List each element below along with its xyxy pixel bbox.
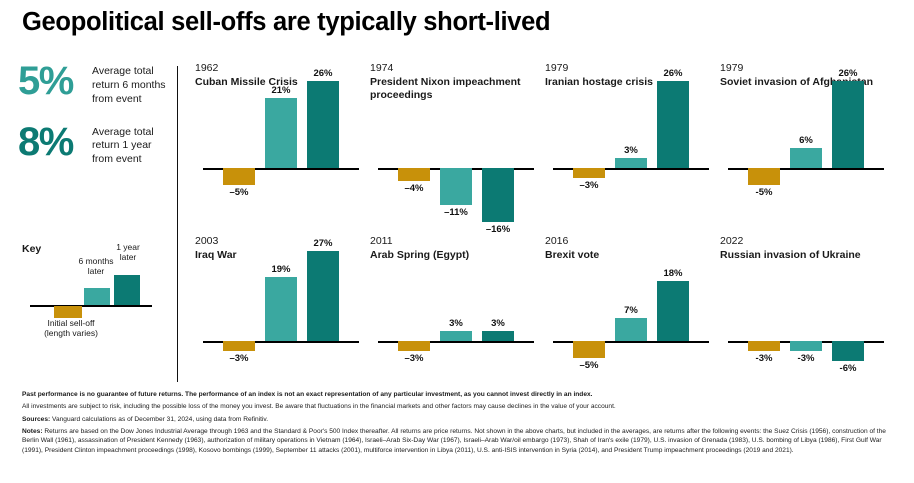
chart-panel: 2016Brexit vote–5%7%18% [545, 235, 717, 403]
bar-value-label: -5% [741, 187, 787, 198]
bar-value-label: –16% [475, 224, 521, 235]
chart-bars: –4%–11%–16% [398, 62, 528, 230]
bar-value-label: –11% [433, 207, 479, 218]
bar-value-label: -6% [825, 363, 871, 374]
bar-value-label: 26% [825, 68, 871, 79]
chart-bars: –5%7%18% [573, 235, 703, 403]
bar-value-label: 26% [300, 68, 346, 79]
bar-initial-sell-off-length-varies [573, 168, 605, 178]
chart-panel: 2003Iraq War–3%19%27% [195, 235, 367, 403]
stat-value-one-year: 8% [18, 123, 92, 161]
bar-6-months-later [265, 277, 297, 341]
chart-bars: –3%3%26% [573, 62, 703, 230]
key-bar-initial-selloff [54, 306, 82, 318]
panel-divider [177, 66, 178, 382]
bar-6-months-later [440, 331, 472, 341]
bar-value-label: –3% [391, 353, 437, 364]
chart-bars: -5%6%26% [748, 62, 878, 230]
bar-1-year-later [307, 81, 339, 168]
footnote-notes: Notes: Returns are based on the Dow Jone… [22, 427, 898, 455]
bar-6-months-later [265, 98, 297, 168]
footnote-disclaimer-2: All investments are subject to risk, inc… [22, 402, 898, 411]
bar-initial-sell-off-length-varies [223, 168, 255, 185]
bar-value-label: 3% [433, 318, 479, 329]
bar-initial-sell-off-length-varies [398, 168, 430, 181]
chart-key: Key 6 months later 1 year later Initial … [22, 243, 172, 321]
bar-value-label: -3% [741, 353, 787, 364]
footnote-disclaimer-1-text: Past performance is no guarantee of futu… [22, 391, 593, 398]
chart-panel: 1979Iranian hostage crisis–3%3%26% [545, 62, 717, 230]
key-bar-one-year [114, 275, 140, 305]
bar-value-label: –4% [391, 183, 437, 194]
chart-bars: -3%-3%-6% [748, 235, 878, 403]
bar-initial-sell-off-length-varies [748, 341, 780, 351]
page-title: Geopolitical sell-offs are typically sho… [22, 8, 550, 37]
footnote-sources: Sources: Vanguard calculations as of Dec… [22, 415, 898, 424]
footnote-sources-text: Vanguard calculations as of December 31,… [50, 416, 268, 423]
chart-panel: 1962Cuban Missile Crisis–5%21%26% [195, 62, 367, 230]
bar-initial-sell-off-length-varies [573, 341, 605, 358]
bar-initial-sell-off-length-varies [398, 341, 430, 351]
bar-1-year-later [657, 81, 689, 168]
chart-bars: –3%19%27% [223, 235, 353, 403]
bar-6-months-later [440, 168, 472, 205]
bar-1-year-later [657, 281, 689, 341]
key-figure: 6 months later 1 year later Initial sell… [22, 259, 162, 321]
bar-value-label: 18% [650, 268, 696, 279]
stat-one-year: 8% Average total return 1 year from even… [18, 123, 168, 168]
bar-value-label: –5% [566, 360, 612, 371]
bar-6-months-later [615, 158, 647, 168]
bar-6-months-later [615, 318, 647, 341]
bar-value-label: 7% [608, 305, 654, 316]
chart-bars: –5%21%26% [223, 62, 353, 230]
stat-description-six-months: Average total return 6 months from event [92, 62, 168, 107]
bar-value-label: 26% [650, 68, 696, 79]
bar-value-label: 3% [475, 318, 521, 329]
key-label-initial-selloff: Initial sell-off (length varies) [44, 319, 98, 339]
bar-6-months-later [790, 148, 822, 168]
bar-1-year-later [482, 168, 514, 222]
bar-1-year-later [307, 251, 339, 341]
bar-value-label: 19% [258, 264, 304, 275]
key-bar-six-months [84, 288, 110, 305]
chart-panel: 2022Russian invasion of Ukraine-3%-3%-6% [720, 235, 892, 403]
bar-value-label: –3% [566, 180, 612, 191]
footnote-notes-text: Returns are based on the Dow Jones Indus… [22, 428, 886, 454]
chart-panel: 2011Arab Spring (Egypt)–3%3%3% [370, 235, 542, 403]
stat-description-one-year: Average total return 1 year from event [92, 123, 168, 168]
bar-value-label: –5% [216, 187, 262, 198]
footnote-sources-label: Sources: [22, 416, 50, 423]
key-baseline [30, 305, 152, 307]
bar-value-label: 21% [258, 85, 304, 96]
footnote-notes-label: Notes: [22, 428, 43, 435]
average-returns-panel: 5% Average total return 6 months from ev… [18, 62, 168, 183]
bar-1-year-later [482, 331, 514, 341]
footnote-disclaimer-1: Past performance is no guarantee of futu… [22, 390, 898, 399]
bar-6-months-later [790, 341, 822, 351]
bar-value-label: 3% [608, 145, 654, 156]
chart-bars: –3%3%3% [398, 235, 528, 403]
bar-initial-sell-off-length-varies [748, 168, 780, 185]
bar-value-label: -3% [783, 353, 829, 364]
bar-1-year-later [832, 341, 864, 361]
bar-1-year-later [832, 81, 864, 168]
chart-panel: 1979Soviet invasion of Afghanistan-5%6%2… [720, 62, 892, 230]
stat-value-six-months: 5% [18, 62, 92, 100]
chart-panel: 1974President Nixon impeachment proceedi… [370, 62, 542, 230]
bar-value-label: 6% [783, 135, 829, 146]
stat-six-months: 5% Average total return 6 months from ev… [18, 62, 168, 107]
footnotes: Past performance is no guarantee of futu… [22, 390, 898, 458]
bar-value-label: –3% [216, 353, 262, 364]
bar-initial-sell-off-length-varies [223, 341, 255, 351]
key-label-one-year: 1 year later [110, 243, 146, 263]
key-title: Key [22, 243, 172, 255]
bar-value-label: 27% [300, 238, 346, 249]
